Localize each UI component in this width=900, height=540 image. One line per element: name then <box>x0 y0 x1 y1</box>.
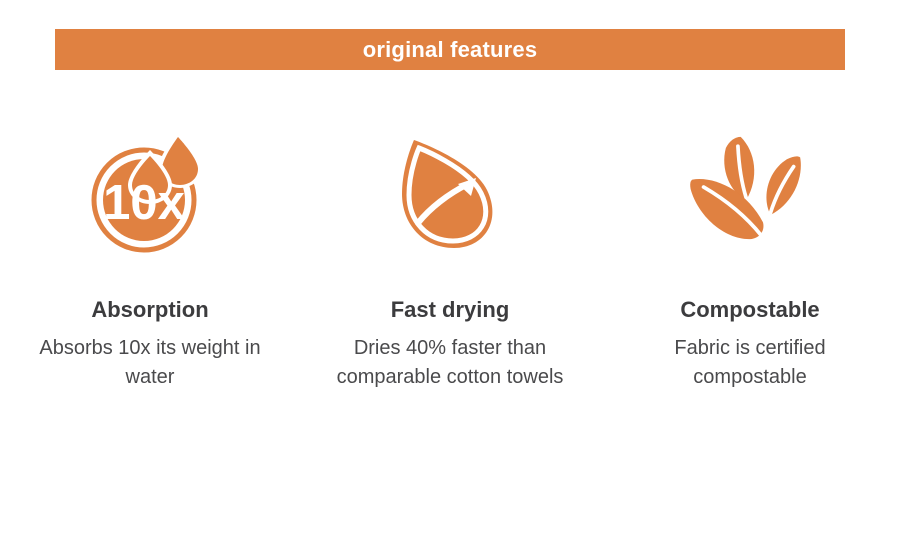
droplet-arrow-icon <box>385 120 515 255</box>
feature-description: Dries 40% faster than comparable cotton … <box>320 334 580 391</box>
infographic-page: original features <box>0 0 900 540</box>
feature-description: Fabric is certified compostable <box>620 334 880 391</box>
banner-title: original features <box>363 39 538 61</box>
feature-absorption: 10x Absorption Absorbs 10x its weight in… <box>0 120 300 391</box>
feature-description: Absorbs 10x its weight in water <box>20 334 280 391</box>
leaves-icon <box>685 120 815 255</box>
feature-title: Compostable <box>680 298 819 322</box>
feature-fast-drying: Fast drying Dries 40% faster than compar… <box>300 120 600 391</box>
features-row: 10x Absorption Absorbs 10x its weight in… <box>0 120 900 391</box>
droplet-10x-icon: 10x <box>85 120 215 255</box>
feature-title: Absorption <box>91 298 208 322</box>
feature-compostable: Compostable Fabric is certified composta… <box>600 120 900 391</box>
droplet-10x-label: 10x <box>103 176 185 230</box>
banner: original features <box>55 29 845 70</box>
feature-title: Fast drying <box>391 298 510 322</box>
